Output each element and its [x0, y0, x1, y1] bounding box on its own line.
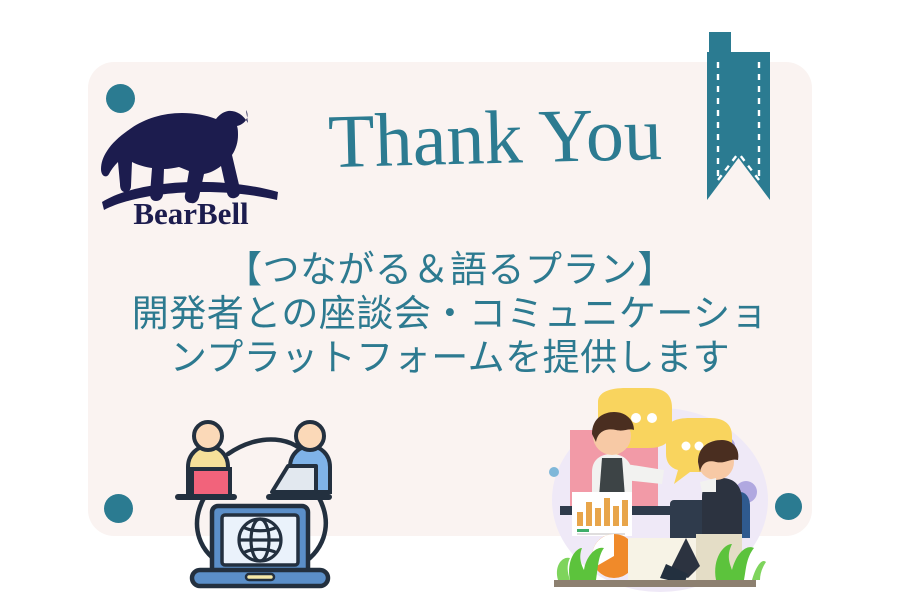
- page-title: Thank You: [299, 91, 691, 185]
- body-text-line-1: 【つながる＆語るプラン】: [88, 248, 812, 292]
- logo-wordmark: BearBell: [96, 196, 286, 232]
- person-yellow-shirt: [175, 422, 237, 500]
- remote-collaboration-illustration: [170, 414, 350, 594]
- body-text: 【つながる＆語るプラン】 開発者との座談会・コミュニケーショ ンプラットフォーム…: [88, 248, 812, 380]
- discussion-meeting-illustration: [540, 388, 770, 600]
- slide-canvas: BearBell Thank You 【つながる＆語るプラン】 開発者との座談会…: [0, 0, 901, 600]
- decorative-dot-bottom-right: [775, 493, 802, 520]
- body-text-line-3: ンプラットフォームを提供します: [88, 336, 812, 380]
- person-blue-shirt: [266, 422, 332, 500]
- bookmark-ribbon-icon: [699, 32, 770, 200]
- bar-chart-card: [572, 492, 632, 536]
- plant-left: [557, 548, 604, 580]
- globe-icon: [239, 519, 281, 561]
- large-laptop: [192, 506, 328, 586]
- body-text-line-2: 開発者との座談会・コミュニケーショ: [88, 292, 812, 336]
- decorative-dot-bottom-left: [104, 494, 133, 523]
